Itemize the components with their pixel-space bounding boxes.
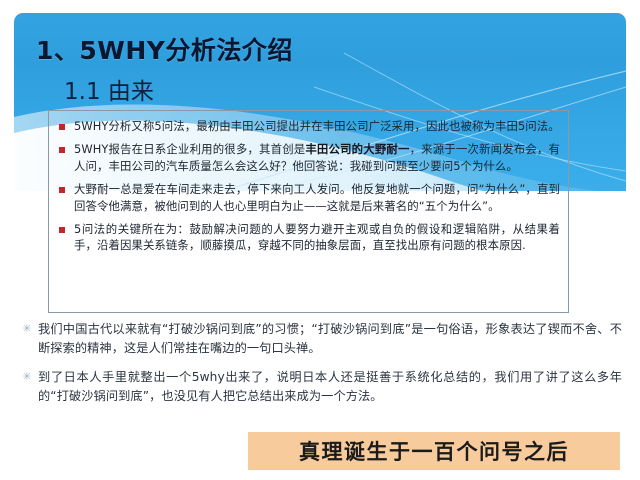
content-bullet-3: 大野耐一总是爱在车间走来走去，停下来向工人发问。他反复地就一个问题，问“为什么”… xyxy=(55,181,560,214)
content-bullet-text: 5问法的关键所在为：鼓励解决问题的人要努力避开主观或自负的假设和逻辑陷阱，从结果… xyxy=(74,221,560,254)
highlight-banner-text: 真理诞生于一百个问号之后 xyxy=(299,436,569,466)
content-bullet-1: 5WHY分析又称5问法，最初由丰田公司提出并在丰田公司广泛采用，因此也被称为丰田… xyxy=(55,118,560,134)
list-item: ✳ 到了日本人手里就整出一个5why出来了，说明日本人还是挺善于系统化总结的，我… xyxy=(22,368,622,406)
square-bullet-icon xyxy=(59,147,65,153)
bullet-text-emphasis: 丰田公司的大野耐一 xyxy=(305,142,409,156)
lower-bullet-list: ✳ 我们中国古代以来就有“打破沙锅问到底”的习惯；“打破沙锅问到底”是一句俗语，… xyxy=(22,320,622,416)
slide-canvas: 1、5WHY分析法介绍 1.1 由来 5WHY分析又称5问法，最初由丰田公司提出… xyxy=(0,0,640,480)
list-item-label: 到了日本人手里就整出一个5why出来了，说明日本人还是挺善于系统化总结的，我们用… xyxy=(38,368,622,406)
content-bullet-4: 5问法的关键所在为：鼓励解决问题的人要努力避开主观或自负的假设和逻辑陷阱，从结果… xyxy=(55,221,560,254)
bullet-text-pre: 5WHY报告在日系企业利用的很多，其首创是 xyxy=(74,142,305,156)
list-item: ✳ 我们中国古代以来就有“打破沙锅问到底”的习惯；“打破沙锅问到底”是一句俗语，… xyxy=(22,320,622,358)
content-box: 5WHY分析又称5问法，最初由丰田公司提出并在丰田公司广泛采用，因此也被称为丰田… xyxy=(48,110,569,313)
highlight-banner: 真理诞生于一百个问号之后 xyxy=(248,432,620,470)
page-subtitle: 1.1 由来 xyxy=(64,72,154,106)
square-bullet-icon xyxy=(59,227,65,233)
asterisk-bullet-icon: ✳ xyxy=(22,368,32,385)
content-box-inner: 5WHY分析又称5问法，最初由丰田公司提出并在丰田公司广泛采用，因此也被称为丰田… xyxy=(49,111,568,254)
list-item-label: 我们中国古代以来就有“打破沙锅问到底”的习惯；“打破沙锅问到底”是一句俗语，形象… xyxy=(38,320,622,358)
content-bullet-text: 5WHY报告在日系企业利用的很多，其首创是丰田公司的大野耐一，来源于一次新闻发布… xyxy=(74,141,560,174)
asterisk-bullet-icon: ✳ xyxy=(22,320,32,337)
content-bullet-text: 大野耐一总是爱在车间走来走去，停下来向工人发问。他反复地就一个问题，问“为什么”… xyxy=(74,181,560,214)
content-bullet-2: 5WHY报告在日系企业利用的很多，其首创是丰田公司的大野耐一，来源于一次新闻发布… xyxy=(55,141,560,174)
square-bullet-icon xyxy=(59,124,65,130)
page-title: 1、5WHY分析法介绍 xyxy=(36,31,293,67)
square-bullet-icon xyxy=(59,187,65,193)
content-bullet-text: 5WHY分析又称5问法，最初由丰田公司提出并在丰田公司广泛采用，因此也被称为丰田… xyxy=(74,118,560,134)
